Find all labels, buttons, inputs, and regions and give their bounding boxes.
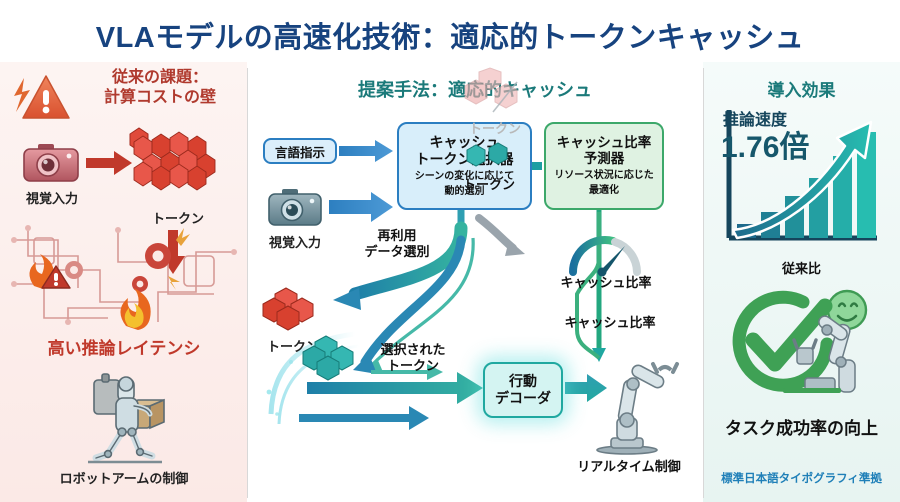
infographic-root: VLAモデルの高速化技術：適応的トークンキャッシュ 従来の課題： 計算コストの壁 [0,0,900,502]
decoder-title-line2: デコーダ [495,390,551,407]
reuse-line2: データ選別 [343,244,451,260]
cache-ratio-gauge-label: キャッシュ比率 [555,272,657,291]
predictor-sub-line2: 最適化 [589,185,619,197]
panel-divider-right [703,68,704,498]
reuse-selection-label: 再利用 データ選別 [343,228,451,261]
speed-value: 1.76倍 [721,132,839,164]
panel-divider-left [247,68,248,498]
panel-method: 提案手法：適応的キャッシュ [247,62,703,502]
realtime-control-label: リアルタイム制御 [563,456,695,475]
node-cache-ratio-predictor[interactable]: キャッシュ比率 予測器 リソース状況に応じた 最適化 [544,122,664,210]
token-discarded-label: トークン [453,118,537,137]
speed-label: 推論速度 [723,112,831,130]
camera-icon [22,140,80,184]
reuse-line1: 再利用 [343,228,451,244]
selected-tokens-label: 選択された トークン [365,342,461,375]
visual-input-label: 視覚入力 [255,232,335,251]
walking-robot-icon [78,362,170,472]
robot-control-label: ロボットアームの制御 [8,468,240,487]
footer-note: 標準日本語タイポグラフィ準拠 [703,470,900,486]
left-heading: 従来の課題： 計算コストの壁 [76,68,244,108]
node-language-label: 言語指示 [275,142,325,161]
task-success-label: タスク成功率の向上 [703,414,900,439]
baseline-label: 従来比 [703,258,900,277]
page-title: VLAモデルの高速化技術：適応的トークンキャッシュ [0,14,900,56]
robot-arm-icon [583,362,679,458]
token-cluster-selected-icon [301,336,363,386]
token-cluster-discarded-icon [463,68,525,120]
selected-line1: 選択された [365,342,461,358]
node-action-decoder[interactable]: 行動 デコーダ [483,362,563,418]
camera-icon [267,186,323,228]
flow-arrow-red [86,150,132,176]
predictor-title-line2: 予測器 [584,151,625,167]
warning-triangle-icon [12,70,72,124]
cache-ratio-flow-label: キャッシュ比率 [555,312,665,331]
visual-input-label: 視覚入力 [12,188,92,207]
success-illustration [721,288,883,408]
node-language-instruction[interactable]: 言語指示 [263,138,337,164]
token-cluster-red-icon [130,128,226,202]
token-cluster-teal-small-icon [465,142,513,172]
predictor-title-line1: キャッシュ比率 [557,135,652,151]
token-cluster-red-icon [261,288,323,334]
panel-problem: 従来の課題： 計算コストの壁 視覚入力 [0,62,247,502]
left-heading-line1: 従来の課題： [76,68,244,88]
circuit-overload-illustration [8,222,240,332]
panel-results: 導入効果 推論速度 [703,62,900,502]
predictor-sub-line1: リソース状況に応じた [554,170,654,182]
selected-line2: トークン [365,358,461,374]
gauge-icon [569,232,641,276]
token-label: トークン [443,174,535,193]
right-heading: 導入効果 [703,76,900,101]
left-heading-line2: 計算コストの壁 [76,88,244,108]
latency-label: 高い推論レイテンシ [8,334,240,359]
decoder-title-line1: 行動 [509,373,537,390]
